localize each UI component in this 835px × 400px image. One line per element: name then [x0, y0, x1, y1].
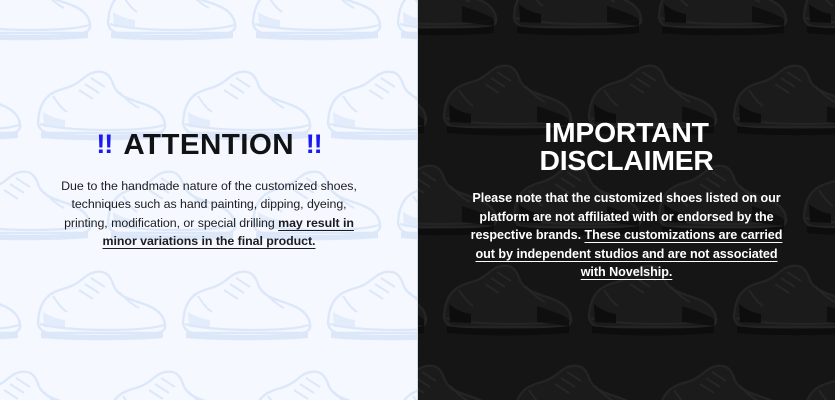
attention-title: ATTENTION	[124, 131, 295, 160]
exclamation-marks-left-icon: !!	[96, 131, 112, 158]
disclaimer-banner: !! ATTENTION !! Due to the handmade natu…	[0, 0, 835, 400]
disclaimer-title-line2: DISCLAIMER	[539, 147, 713, 175]
exclamation-marks-right-icon: !!	[306, 131, 322, 158]
disclaimer-body: Please note that the customized shoes li…	[466, 189, 788, 282]
attention-body: Due to the handmade nature of the custom…	[59, 177, 359, 251]
attention-panel: !! ATTENTION !! Due to the handmade natu…	[0, 0, 418, 400]
disclaimer-panel: IMPORTANT DISCLAIMER Please note that th…	[418, 0, 835, 400]
attention-heading-row: !! ATTENTION !!	[96, 131, 321, 160]
panel-divider	[417, 0, 418, 400]
disclaimer-title-line1: IMPORTANT	[539, 119, 713, 147]
disclaimer-title: IMPORTANT DISCLAIMER	[539, 119, 713, 175]
